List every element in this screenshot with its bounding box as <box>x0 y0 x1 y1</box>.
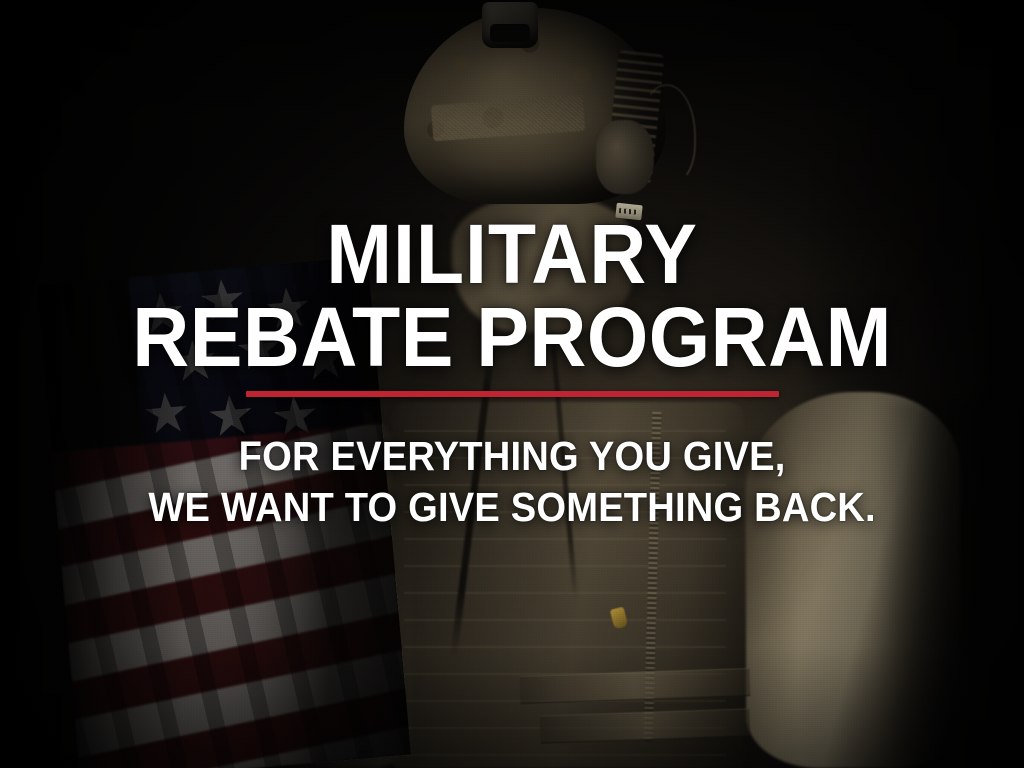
red-divider-rule <box>246 391 779 397</box>
title-line-2: REBATE PROGRAM <box>132 297 892 378</box>
page-title: MILITARY REBATE PROGRAM <box>132 214 892 377</box>
tagline-line-1: FOR EVERYTHING YOU GIVE, <box>148 431 875 482</box>
military-rebate-banner: MILITARY REBATE PROGRAM FOR EVERYTHING Y… <box>0 0 1024 768</box>
title-line-1: MILITARY <box>132 214 892 295</box>
text-overlay: MILITARY REBATE PROGRAM FOR EVERYTHING Y… <box>0 0 1024 768</box>
tagline: FOR EVERYTHING YOU GIVE, WE WANT TO GIVE… <box>148 431 875 533</box>
tagline-line-2: WE WANT TO GIVE SOMETHING BACK. <box>148 482 875 533</box>
